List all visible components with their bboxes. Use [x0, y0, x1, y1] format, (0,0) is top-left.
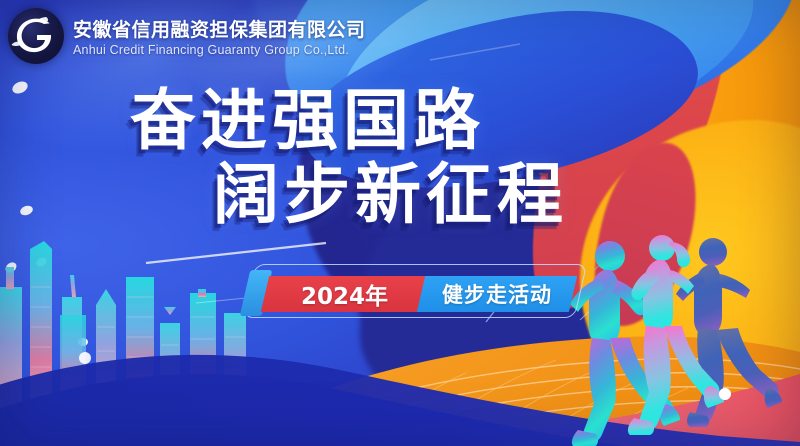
brand-text-block: 安徽省信用融资担保集团有限公司 Anhui Credit Financing G…	[73, 15, 366, 57]
company-logo-icon	[8, 8, 64, 64]
highlight-dot-icon	[719, 388, 731, 400]
running-figures	[570, 216, 800, 446]
banner-year-label: 2024年	[301, 277, 388, 311]
title-line-1: 奋进强国路	[130, 88, 720, 154]
runner-figure-back	[676, 238, 782, 427]
company-name-cn: 安徽省信用融资担保集团有限公司	[73, 15, 366, 42]
banner-event-label: 健步走活动	[442, 279, 552, 309]
banner-year-block: 2024年	[261, 276, 429, 312]
banner-event-block: 健步走活动	[417, 276, 577, 312]
poster-title: 奋进强国路 阔步新征程	[0, 88, 720, 228]
company-name-en: Anhui Credit Financing Guaranty Group Co…	[73, 43, 366, 57]
event-banner: 2024年 健步走活动	[255, 272, 575, 314]
promotional-poster: 安徽省信用融资担保集团有限公司 Anhui Credit Financing G…	[0, 0, 800, 446]
brand-header: 安徽省信用融资担保集团有限公司 Anhui Credit Financing G…	[8, 8, 366, 64]
